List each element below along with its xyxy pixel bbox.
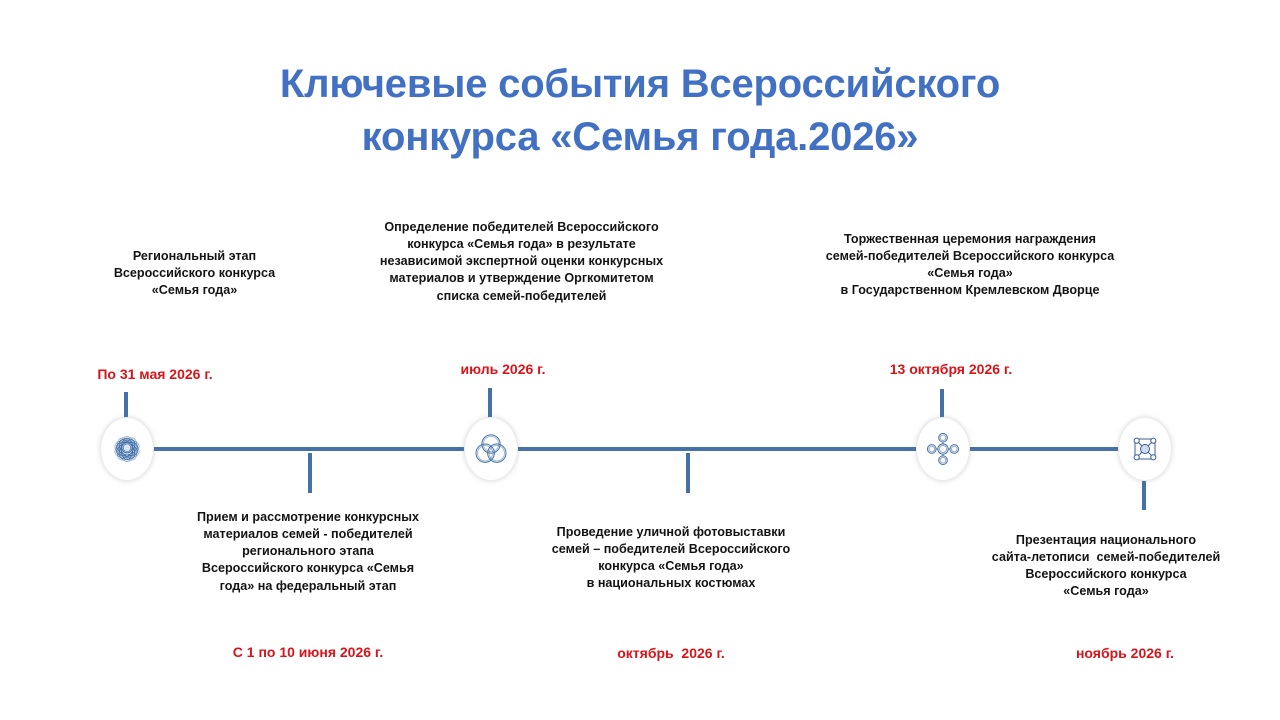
event-4-line-1: Прием и рассмотрение конкурсных [160,509,456,526]
event-5-line-4: в национальных костюмах [518,575,824,592]
event-6-line-4: «Семья года» [958,583,1254,600]
event-2-line-5: списка семей-победителей [330,288,713,305]
event-2-line-4: материалов и утверждение Оргкомитетом [330,270,713,287]
event-1-line-1: Региональный этап [52,248,337,265]
date-label-2: июль 2026 г. [378,361,628,377]
timeline-node-1[interactable] [100,417,154,481]
date-label-1: По 31 мая 2026 г. [20,366,290,382]
page-title-line-2: конкурса «Семья года.2026» [90,111,1190,164]
timeline-tick-down-2 [686,453,690,493]
event-3-line-2: семей-победителей Всероссийского конкурс… [765,248,1175,265]
date-label-4: С 1 по 10 июня 2026 г. [183,644,433,660]
timeline-axis [120,447,1145,451]
event-description-2: Определение победителей Всероссийского к… [330,219,713,305]
event-6-line-1: Презентация национального [958,532,1254,549]
event-3-line-4: в Государственном Кремлевском Дворце [765,282,1175,299]
event-5-line-2: семей – победителей Всероссийского [518,541,824,558]
event-4-line-2: материалов семей - победителей [160,526,456,543]
date-label-5: октябрь 2026 г. [546,645,796,661]
event-4-line-3: регионального этапа [160,543,456,560]
event-3-line-1: Торжественная церемония награждения [765,231,1175,248]
three-circles-venn-icon [471,429,511,469]
event-2-line-2: конкурса «Семья года» в результате [330,236,713,253]
timeline-tick-down-1 [308,453,312,493]
event-6-line-3: Всероссийского конкурса [958,566,1254,583]
event-1-line-3: «Семья года» [52,282,337,299]
event-4-line-5: года» на федеральный этап [160,578,456,595]
event-description-3: Торжественная церемония награждения семе… [765,231,1175,300]
event-5-line-1: Проведение уличной фотовыставки [518,524,824,541]
timeline-node-2[interactable] [464,417,518,481]
event-2-line-3: независимой экспертной оценки конкурсных [330,253,713,270]
event-6-line-2: сайта-летописи семей-победителей [958,549,1254,566]
timeline-node-3[interactable] [916,417,970,481]
event-description-1: Региональный этап Всероссийского конкурс… [52,248,337,299]
timeline-node-4[interactable] [1118,417,1172,481]
date-label-3: 13 октября 2026 г. [826,361,1076,377]
timeline-infographic-slide: Ключевые события Всероссийского конкурса… [0,0,1280,720]
page-title-line-1: Ключевые события Всероссийского [90,58,1190,111]
date-label-6: ноябрь 2026 г. [1000,645,1250,661]
event-description-6: Презентация национального сайта-летописи… [958,532,1254,601]
event-4-line-4: Всероссийского конкурса «Семья [160,560,456,577]
atom-flower-icon [107,429,147,469]
page-title: Ключевые события Всероссийского конкурса… [90,58,1190,164]
event-3-line-3: «Семья года» [765,265,1175,282]
event-description-4: Прием и рассмотрение конкурсных материал… [160,509,456,595]
network-nodes-icon [1125,429,1165,469]
event-1-line-2: Всероссийского конкурса [52,265,337,282]
molecule-cross-icon [923,429,963,469]
event-5-line-3: конкурса «Семья года» [518,558,824,575]
event-2-line-1: Определение победителей Всероссийского [330,219,713,236]
event-description-5: Проведение уличной фотовыставки семей – … [518,524,824,593]
